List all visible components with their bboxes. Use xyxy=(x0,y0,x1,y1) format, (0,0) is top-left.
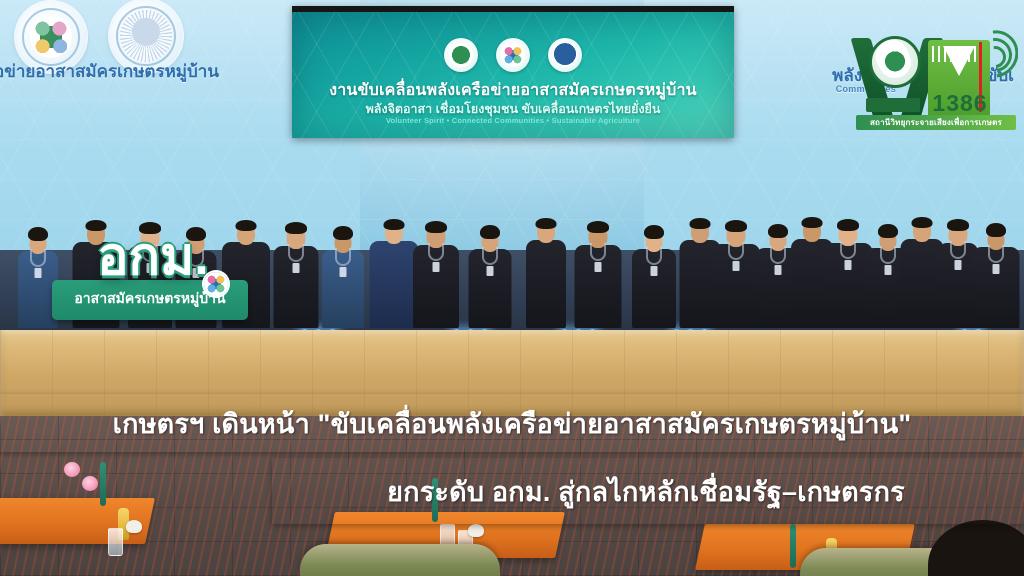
person-id-badge xyxy=(293,263,300,273)
flower-icon xyxy=(64,462,80,477)
person-hair xyxy=(384,219,405,230)
led-seal-garuda-icon xyxy=(548,38,582,72)
led-screen-seal-row xyxy=(292,38,734,72)
person-id-badge xyxy=(487,266,494,276)
person-id-badge xyxy=(885,265,892,275)
person xyxy=(274,191,319,328)
person xyxy=(526,182,566,328)
person-hair xyxy=(480,225,500,239)
person xyxy=(712,188,760,328)
am-logo-signal-waves-icon xyxy=(978,28,1018,80)
person-hair xyxy=(802,217,823,228)
person-hair xyxy=(587,221,609,233)
person-hair xyxy=(725,220,747,232)
person-id-badge xyxy=(340,267,347,277)
person xyxy=(322,198,364,328)
person-id-badge xyxy=(845,260,852,270)
person-lanyard xyxy=(288,244,304,262)
led-seal-agriculture-icon xyxy=(444,38,478,72)
person-id-badge xyxy=(595,262,602,272)
person-lanyard xyxy=(335,248,351,266)
person-hair xyxy=(912,217,933,228)
person-id-badge xyxy=(993,264,1000,274)
flower-stem xyxy=(790,524,796,568)
person-id-badge xyxy=(35,268,42,278)
person-hair xyxy=(986,223,1006,237)
napkin xyxy=(126,520,142,533)
person-lanyard xyxy=(482,247,498,265)
headline-band-secondary: ยกระดับ อกม. สู่กลไกหลักเชื่อมรัฐ–เกษตรก… xyxy=(272,458,1024,524)
person xyxy=(973,193,1020,328)
led-screen-english-line: Volunteer Spirit • Connected Communities… xyxy=(292,116,734,125)
person-torso xyxy=(526,240,566,328)
person xyxy=(469,197,512,328)
person-lanyard xyxy=(988,245,1004,263)
person-lanyard xyxy=(728,242,744,260)
person-hair xyxy=(947,219,969,231)
okm-standee-emblem-icon xyxy=(204,272,228,296)
person-id-badge xyxy=(733,261,740,271)
flower-stem xyxy=(100,462,106,506)
person-id-badge xyxy=(775,265,782,275)
napkin xyxy=(468,524,484,537)
person-lanyard xyxy=(646,247,662,265)
led-seal-multicolor-icon xyxy=(496,38,530,72)
person-hair xyxy=(333,226,353,240)
drinking-glass xyxy=(108,528,123,556)
am-logo-seal-icon xyxy=(869,36,921,88)
person-lanyard xyxy=(840,241,856,259)
person-torso xyxy=(370,241,419,328)
person-hair xyxy=(690,218,711,229)
person xyxy=(370,183,419,328)
person-id-badge xyxy=(955,260,962,270)
led-stage-screen: งานขับเคลื่อนพลังเครือข่ายอาสาสมัครเกษตร… xyxy=(292,6,734,138)
person-hair xyxy=(536,218,557,229)
person-hair xyxy=(878,224,898,238)
flower-icon xyxy=(82,476,98,491)
person-hair xyxy=(768,224,788,238)
am-logo-frequency: 1386 xyxy=(930,92,990,115)
person-lanyard xyxy=(770,246,786,264)
chair-back xyxy=(300,544,500,576)
person-id-badge xyxy=(651,266,658,276)
person-hair xyxy=(644,225,664,239)
headline-line-1: เกษตรฯ เดินหน้า "ขับเคลื่อนพลังเครือข่าย… xyxy=(0,402,1024,445)
person xyxy=(575,189,622,328)
person-lanyard xyxy=(590,243,606,261)
headline-band-primary: เกษตรฯ เดินหน้า "ขับเคลื่อนพลังเครือข่าย… xyxy=(0,394,1024,452)
news-banner-image: อข่ายอาสาสมัครเกษตรหมู่บ้าน พลังจิ ชน ขั… xyxy=(0,0,1024,576)
person-hair xyxy=(837,219,859,231)
person xyxy=(632,196,676,328)
headline-line-2: ยกระดับ อกม. สู่กลไกหลักเชื่อมรัฐ–เกษตรก… xyxy=(272,470,1024,513)
okm-standee-word: อกม. xyxy=(44,228,262,286)
okm-standee: อาสาสมัครเกษตรหมู่บ้าน อกม. xyxy=(44,228,262,320)
person-lanyard xyxy=(880,246,896,264)
person-hair xyxy=(285,222,307,234)
person-lanyard xyxy=(950,241,966,259)
am-1386-logo: 1386 สถานีวิทยุกระจายเสียงเพื่อการเกษตร xyxy=(856,16,1016,132)
person xyxy=(413,190,459,328)
person-lanyard xyxy=(428,243,444,261)
person-hair xyxy=(425,221,447,233)
person-id-badge xyxy=(433,262,440,272)
backdrop-text-left: อข่ายอาสาสมัครเกษตรหมู่บ้าน xyxy=(0,58,219,85)
am-logo-tagline: สถานีวิทยุกระจายเสียงเพื่อการเกษตร xyxy=(856,115,1016,130)
